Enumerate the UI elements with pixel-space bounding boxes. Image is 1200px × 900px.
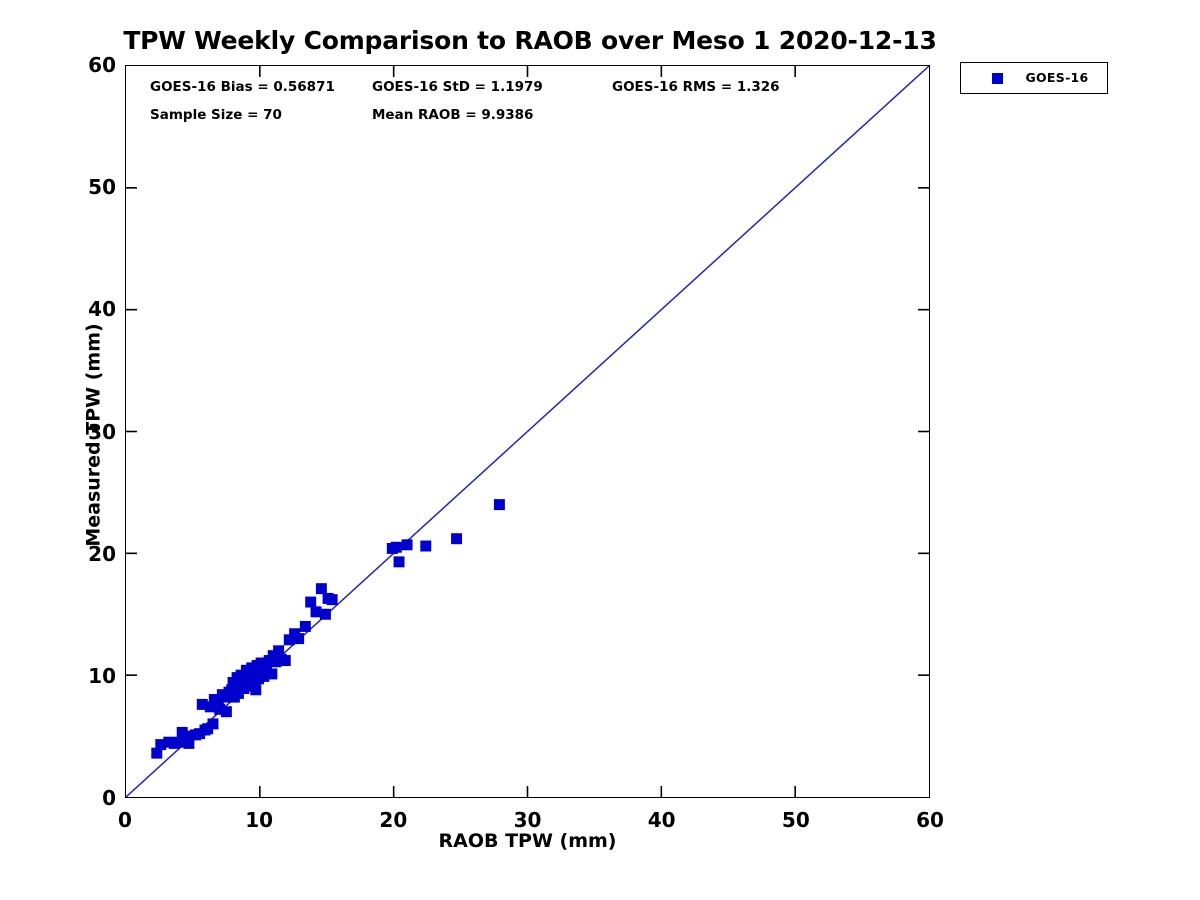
scatter-point	[266, 668, 277, 679]
scatter-point	[305, 597, 316, 608]
chart-figure: TPW Weekly Comparison to RAOB over Meso …	[0, 0, 1200, 900]
legend: GOES-16	[960, 62, 1108, 94]
scatter-point	[250, 684, 261, 695]
scatter-point	[293, 633, 304, 644]
scatter-point	[327, 594, 338, 605]
scatter-point	[402, 539, 413, 550]
scatter-point	[311, 606, 322, 617]
scatter-point	[394, 556, 405, 567]
x-tick-label: 20	[353, 808, 433, 832]
scatter-point	[494, 499, 505, 510]
y-axis-title: Measured TPW (mm)	[83, 69, 105, 802]
scatter-point	[320, 609, 331, 620]
x-tick-label: 60	[890, 808, 970, 832]
x-tick-label: 10	[219, 808, 299, 832]
plot-canvas	[126, 66, 929, 797]
plot-area	[125, 65, 930, 798]
legend-marker-icon	[992, 73, 1003, 84]
x-tick-label: 0	[85, 808, 165, 832]
scatter-point	[391, 542, 402, 553]
scatter-point	[280, 655, 291, 666]
scatter-point	[420, 541, 431, 552]
legend-item-label: GOES-16	[1013, 70, 1101, 85]
x-tick-label: 40	[622, 808, 702, 832]
scatter-points	[151, 499, 505, 759]
scatter-point	[316, 583, 327, 594]
x-tick-label: 30	[488, 808, 568, 832]
scatter-point	[208, 718, 219, 729]
x-tick-label: 50	[756, 808, 836, 832]
scatter-point	[451, 533, 462, 544]
x-axis-title: RAOB TPW (mm)	[125, 830, 930, 852]
scatter-point	[221, 706, 232, 717]
page-title: TPW Weekly Comparison to RAOB over Meso …	[0, 26, 1060, 55]
scatter-point	[300, 621, 311, 632]
